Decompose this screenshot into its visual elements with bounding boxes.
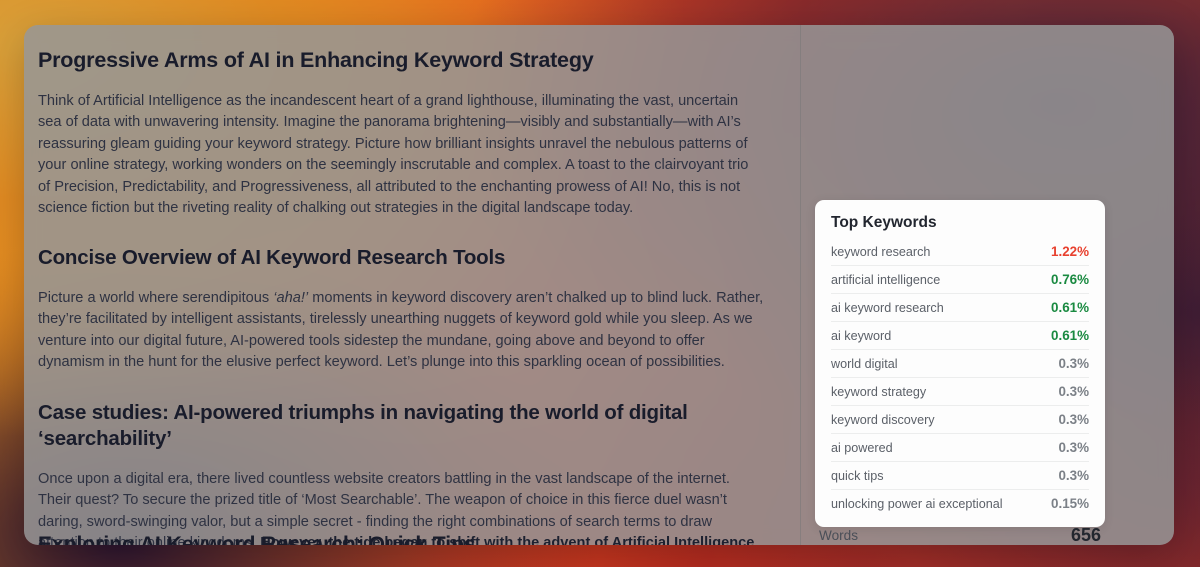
- keyword-term: ai keyword: [831, 329, 891, 343]
- keyword-term: unlocking power ai exceptional: [831, 497, 1003, 511]
- keyword-term: keyword research: [831, 245, 930, 259]
- keyword-density-value: 0.3%: [1058, 468, 1089, 483]
- keyword-row[interactable]: world digital0.3%: [831, 350, 1089, 378]
- top-keywords-list: keyword research1.22%artificial intellig…: [831, 238, 1089, 517]
- document-section: Concise Overview of AI Keyword Research …: [38, 245, 764, 373]
- top-keywords-card: Top Keywords keyword research1.22%artifi…: [815, 200, 1105, 527]
- keyword-row[interactable]: keyword strategy0.3%: [831, 378, 1089, 406]
- section-paragraph-2: Picture a world where serendipitous ‘aha…: [38, 288, 764, 374]
- app-window: Progressive Arms of AI in Enhancing Keyw…: [24, 25, 1174, 545]
- section-heading-3: Case studies: AI-powered triumphs in nav…: [38, 400, 764, 453]
- keyword-row[interactable]: ai powered0.3%: [831, 434, 1089, 462]
- keyword-row[interactable]: keyword discovery0.3%: [831, 406, 1089, 434]
- keyword-term: world digital: [831, 357, 898, 371]
- keyword-term: keyword discovery: [831, 413, 935, 427]
- analysis-sidebar: Top Keywords keyword research1.22%artifi…: [801, 25, 1174, 545]
- keyword-density-value: 0.3%: [1058, 356, 1089, 371]
- section-heading-1: Progressive Arms of AI in Enhancing Keyw…: [38, 47, 764, 75]
- keyword-term: ai powered: [831, 441, 893, 455]
- keyword-row[interactable]: ai keyword research0.61%: [831, 294, 1089, 322]
- document-section: Case studies: AI-powered triumphs in nav…: [38, 400, 764, 545]
- section-heading-2: Concise Overview of AI Keyword Research …: [38, 245, 764, 272]
- keyword-density-value: 0.3%: [1058, 384, 1089, 399]
- top-keywords-title: Top Keywords: [831, 214, 1089, 232]
- document-section: Progressive Arms of AI in Enhancing Keyw…: [38, 47, 764, 219]
- keyword-density-value: 0.3%: [1058, 440, 1089, 455]
- keyword-row[interactable]: artificial intelligence0.76%: [831, 266, 1089, 294]
- section-heading-4-partial: Exploring AI Keyword Research: Quick Tip…: [38, 533, 476, 545]
- word-count-value: 656: [1071, 525, 1101, 545]
- keyword-row[interactable]: keyword research1.22%: [831, 238, 1089, 266]
- keyword-row[interactable]: ai keyword0.61%: [831, 322, 1089, 350]
- keyword-term: artificial intelligence: [831, 273, 940, 287]
- keyword-density-value: 0.61%: [1051, 300, 1089, 315]
- keyword-density-value: 0.3%: [1058, 412, 1089, 427]
- keyword-density-value: 0.61%: [1051, 328, 1089, 343]
- keyword-row[interactable]: quick tips0.3%: [831, 462, 1089, 490]
- keyword-term: ai keyword research: [831, 301, 944, 315]
- keyword-term: quick tips: [831, 469, 884, 483]
- keyword-density-value: 0.76%: [1051, 272, 1089, 287]
- keyword-density-value: 0.15%: [1051, 496, 1089, 511]
- document-body[interactable]: Progressive Arms of AI in Enhancing Keyw…: [38, 47, 764, 545]
- document-editor-pane[interactable]: Progressive Arms of AI in Enhancing Keyw…: [24, 25, 801, 545]
- section-paragraph-1: Think of Artificial Intelligence as the …: [38, 91, 764, 219]
- word-count-label: Words: [819, 528, 858, 543]
- keyword-term: keyword strategy: [831, 385, 926, 399]
- keyword-row[interactable]: unlocking power ai exceptional0.15%: [831, 490, 1089, 517]
- keyword-density-value: 1.22%: [1051, 244, 1089, 259]
- word-count-stat: Words 656: [815, 525, 1105, 545]
